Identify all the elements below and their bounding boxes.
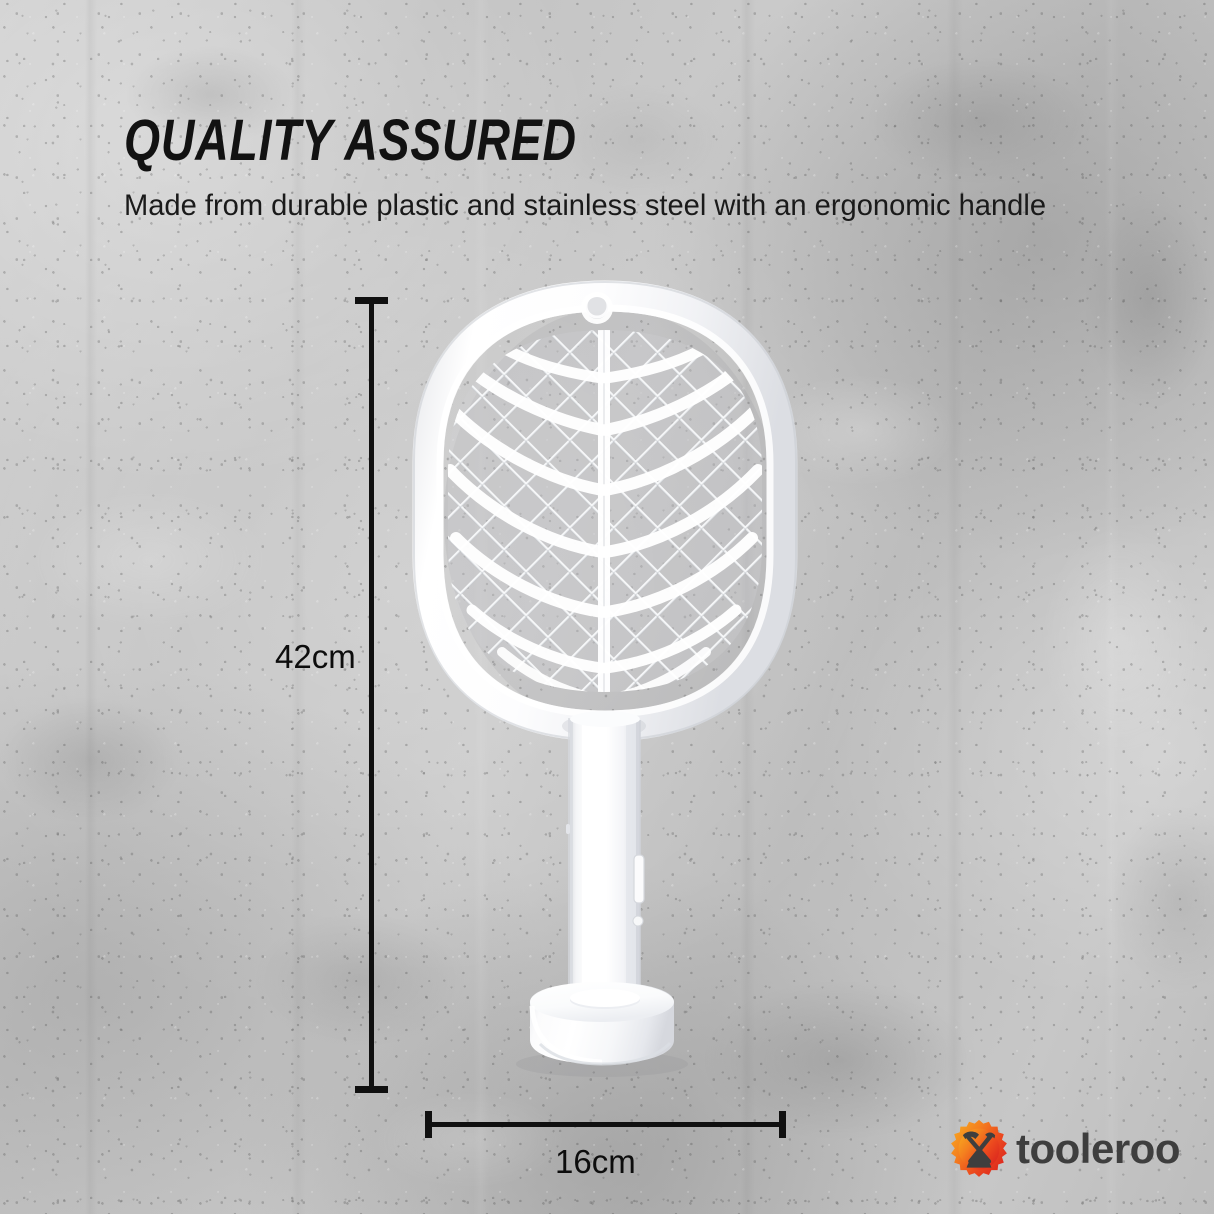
brand-name: tooleroo	[1016, 1128, 1180, 1170]
product-image	[0, 0, 1214, 1214]
hanging-hole	[581, 292, 613, 324]
handle	[562, 711, 646, 1000]
gear-crossed-tools-icon	[948, 1118, 1010, 1180]
charging-base	[516, 982, 688, 1077]
brand-logo[interactable]: tooleroo	[948, 1118, 1180, 1180]
product-infographic: QUALITY ASSURED Made from durable plasti…	[0, 0, 1214, 1214]
